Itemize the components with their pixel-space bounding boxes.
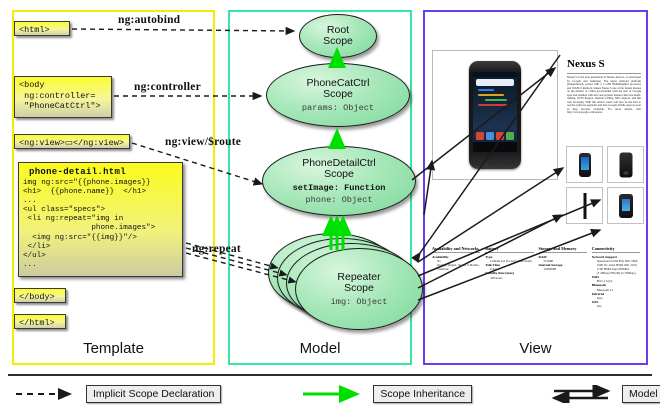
phone-statusbar xyxy=(473,72,517,77)
product-title-rule xyxy=(567,73,641,74)
spec-column-connectivity: Connectivity Network Support Quad-band G… xyxy=(592,246,640,308)
legend-label-data-binding: Model / View Data-binding xyxy=(622,385,660,403)
product-title: Nexus S xyxy=(567,58,605,70)
phone-angled-icon xyxy=(619,194,633,218)
code-card-body: img ng:src="{{phone.images}} <h1> {{phon… xyxy=(19,179,182,270)
thumbnail-phone-angled[interactable] xyxy=(607,187,644,224)
scope-phonecatctrl-prop-params: params: Object xyxy=(302,103,374,113)
product-description: Nexus S is the next generation of Nexus … xyxy=(567,76,641,115)
legend: Implicit Scope Declaration Scope Inherit… xyxy=(8,382,652,406)
column-label-model: Model xyxy=(228,340,412,357)
legend-item-data-binding: Model / View Data-binding xyxy=(550,385,660,403)
spec-value-carriers: Orange, Singtel, Sprint, T-Mobile, Vodaf… xyxy=(432,263,480,271)
phone-device-illustration xyxy=(469,61,521,169)
scope-phonedetailctrl-prop-setimage: setImage: Function xyxy=(293,183,386,193)
spec-column-storage: Storage and Memory RAM 512MB Internal St… xyxy=(539,246,587,308)
spec-value-network-support: Quad-band GSM 850, 900, 1800, 1900 Tri- … xyxy=(592,259,640,275)
phone-app-icon-4 xyxy=(506,132,514,140)
phone-screen-line-4 xyxy=(478,104,508,106)
edge-label-ng-autobind: ng:autobind xyxy=(118,14,180,26)
spec-heading-battery: Battery xyxy=(485,246,533,253)
thumbnail-phone-side[interactable] xyxy=(566,187,603,224)
thumbnail-phone-back[interactable] xyxy=(607,146,644,183)
phone-screen-line-1 xyxy=(478,89,494,91)
tag-ng-view: <ng:view>▭</ng:view> xyxy=(14,134,130,149)
phone-search-box xyxy=(476,79,514,86)
scope-repeater: RepeaterScope img: Object xyxy=(295,248,423,330)
spec-heading-storage: Storage and Memory xyxy=(539,246,587,253)
code-card-title: phone-detail.html xyxy=(19,163,182,179)
legend-label-implicit-scope: Implicit Scope Declaration xyxy=(86,385,221,403)
view-rendered-page: Nexus S Nexus S is the next generation o… xyxy=(429,18,643,340)
phone-screen-line-3 xyxy=(485,99,507,101)
column-label-template: Template xyxy=(12,340,215,357)
spec-value-standby: 428 hours xyxy=(485,276,533,280)
tag-body-open: <body ng:controller= "PhoneCatCtrl"> xyxy=(14,76,112,118)
double-arrow-icon xyxy=(550,385,616,403)
spec-heading-connectivity: Connectivity xyxy=(592,246,640,253)
legend-divider xyxy=(8,374,652,376)
phone-hero-image-frame xyxy=(432,50,558,180)
phone-button-search xyxy=(508,162,516,165)
scope-root: RootScope xyxy=(299,14,377,58)
tag-html-open: <html> xyxy=(14,21,70,36)
scope-phonedetailctrl-title: PhoneDetailCtrlScope xyxy=(302,158,376,181)
phone-app-icon-1 xyxy=(476,132,484,140)
tag-body-close: </body> xyxy=(14,288,66,303)
column-label-view: View xyxy=(423,340,648,357)
green-arrow-icon xyxy=(301,385,367,403)
spec-column-battery: Battery Type Lithium Ion (Li-Ion) (1500 … xyxy=(485,246,533,308)
phone-screen-line-2 xyxy=(478,94,504,96)
code-card-phone-detail: phone-detail.html img ng:src="{{phone.im… xyxy=(18,162,183,277)
phone-dock xyxy=(473,142,517,152)
phone-button-back xyxy=(474,162,482,165)
edge-label-ng-repeat: ng:repeat xyxy=(192,243,241,255)
legend-label-scope-inheritance: Scope Inheritance xyxy=(373,385,472,403)
legend-item-implicit-scope: Implicit Scope Declaration xyxy=(14,385,221,403)
scope-phonecatctrl-title: PhoneCatCtrlScope xyxy=(306,78,369,101)
scope-root-title: RootScope xyxy=(323,25,353,48)
scope-repeater-stack: RepeaterScope img: Object xyxy=(268,233,420,331)
phone-side-icon xyxy=(583,193,586,219)
phone-button-menu xyxy=(491,162,499,165)
spec-value-gps: true xyxy=(592,304,640,308)
thumbnail-phone-front[interactable] xyxy=(566,146,603,183)
dashed-arrow-icon xyxy=(14,385,80,403)
scope-phonecatctrl: PhoneCatCtrlScope params: Object xyxy=(266,63,410,127)
scope-phonedetailctrl-prop-phone: phone: Object xyxy=(305,195,372,205)
thumbnail-list xyxy=(566,146,644,224)
phone-back-icon xyxy=(619,152,632,177)
scope-repeater-prop-img: img: Object xyxy=(331,297,388,307)
edge-label-ng-view-route: ng:view/$route xyxy=(165,136,241,148)
spec-table: Availability and Networks Availability 3… xyxy=(432,246,640,308)
phone-screen xyxy=(473,72,517,152)
phone-hardware-buttons xyxy=(474,162,516,167)
phone-app-icon-3 xyxy=(496,132,504,140)
spec-heading-availability: Availability and Networks xyxy=(432,246,480,253)
phone-front-icon xyxy=(579,153,591,177)
tag-html-close: </html> xyxy=(14,314,66,329)
scope-repeater-title: RepeaterScope xyxy=(337,272,380,295)
spec-column-availability: Availability and Networks Availability 3… xyxy=(432,246,480,308)
scope-phonedetailctrl: PhoneDetailCtrlScope setImage: Function … xyxy=(262,146,416,216)
edge-label-ng-controller: ng:controller xyxy=(134,81,201,93)
phone-app-icon-2 xyxy=(486,132,494,140)
spec-value-internal-storage: 16384MB xyxy=(539,267,587,271)
legend-item-scope-inheritance: Scope Inheritance xyxy=(301,385,472,403)
phone-app-icons xyxy=(476,132,514,140)
diagram-canvas: <html> <body ng:controller= "PhoneCatCtr… xyxy=(0,0,660,420)
